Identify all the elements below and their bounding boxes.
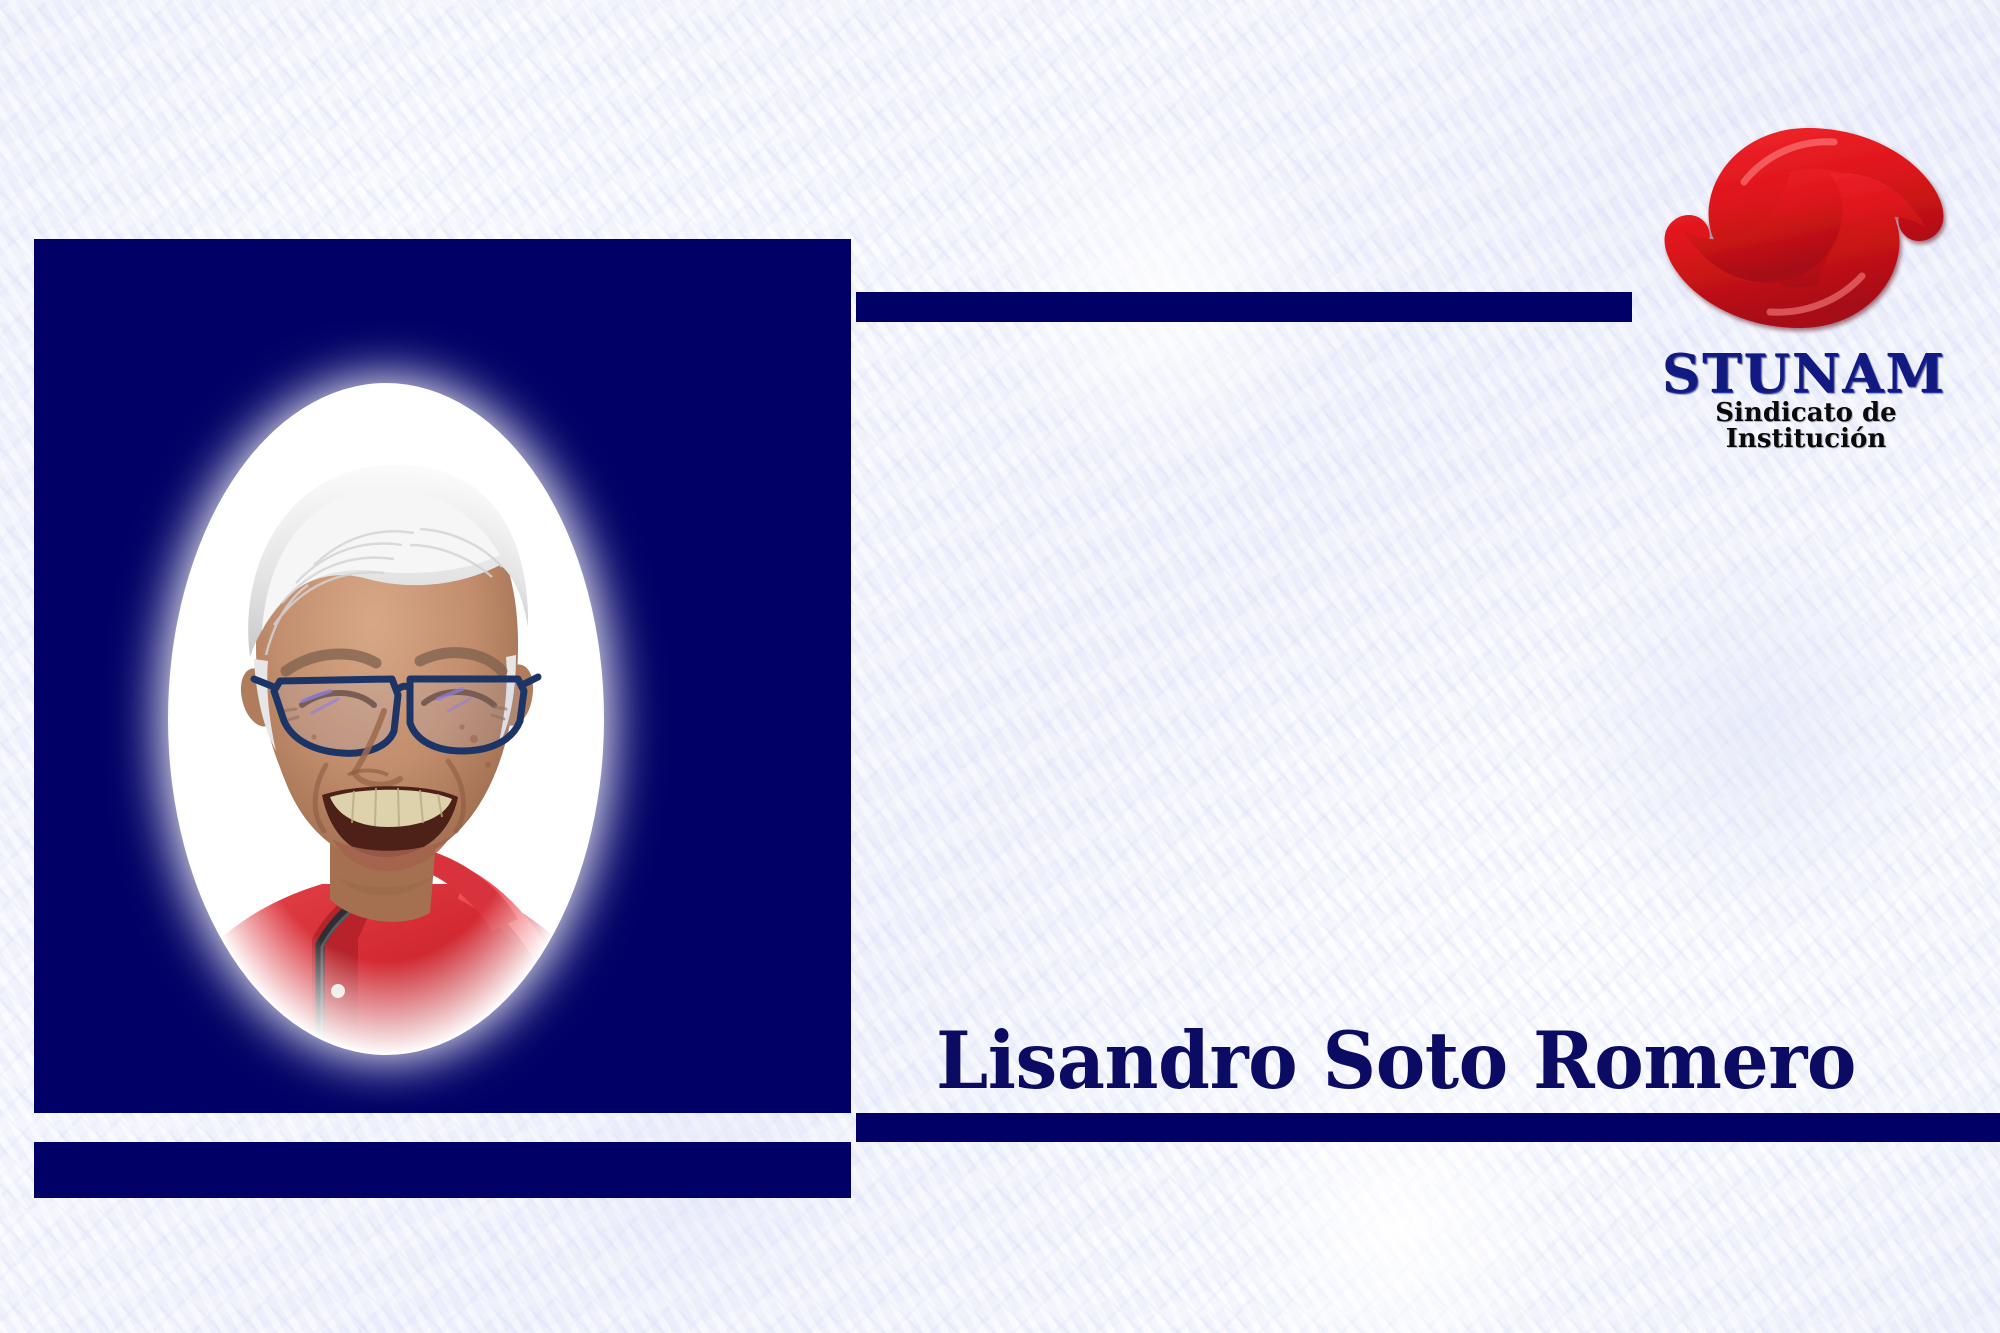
poster-canvas: Lisandro Soto Romero — [0, 0, 2000, 1333]
stunam-emblem-icon — [1648, 108, 1960, 348]
person-name: Lisandro Soto Romero — [936, 1016, 1856, 1106]
stunam-subtitle: Sindicato de Institución — [1636, 400, 1976, 452]
portrait-panel-footer-block — [34, 1142, 851, 1198]
portrait-photo — [162, 379, 610, 1059]
decorative-rule-top — [856, 292, 1632, 322]
decorative-rule-bottom — [856, 1113, 2000, 1142]
stunam-wordmark: STUNAM — [1648, 348, 1960, 401]
portrait-panel — [34, 239, 851, 1113]
